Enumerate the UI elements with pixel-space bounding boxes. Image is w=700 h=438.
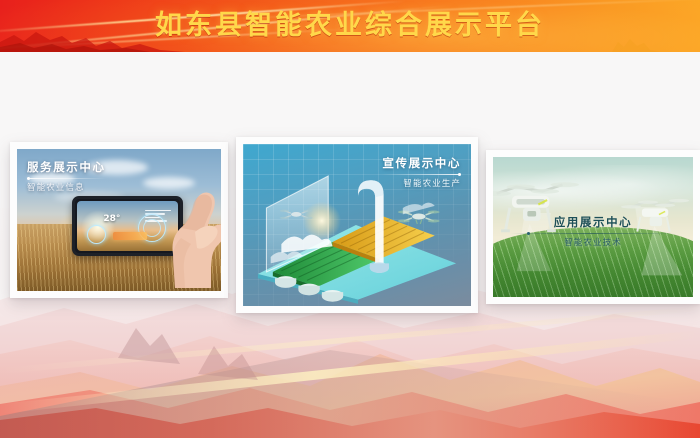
card-caption-application: 应用展示中心 智能农业技术 bbox=[493, 215, 693, 249]
card-application-display-center[interactable]: 应用展示中心 智能农业技术 bbox=[486, 150, 700, 304]
card-promotion-display-center[interactable]: 宣传展示中心 智能农业生产 bbox=[236, 137, 478, 313]
card-caption-promotion: 宣传展示中心 智能农业生产 bbox=[382, 156, 461, 190]
card-subtitle: 智能农业信息 bbox=[27, 182, 106, 194]
card-title: 应用展示中心 bbox=[493, 215, 693, 230]
hand-holding-phone bbox=[135, 180, 221, 288]
app-root: 如东县智能农业综合展示平台 bbox=[0, 0, 700, 438]
card-title: 服务展示中心 bbox=[27, 160, 106, 175]
hud-gauge-ring bbox=[87, 225, 106, 244]
caption-divider bbox=[27, 178, 106, 179]
header-banner: 如东县智能农业综合展示平台 bbox=[0, 0, 700, 52]
weather-temperature: 28° bbox=[103, 214, 120, 224]
card-image-promotion: 宣传展示中心 智能农业生产 bbox=[243, 144, 471, 306]
page-title: 如东县智能农业综合展示平台 bbox=[0, 7, 700, 45]
card-caption-service: 服务展示中心 智能农业信息 bbox=[27, 160, 106, 194]
caption-divider bbox=[511, 233, 675, 234]
caption-dot bbox=[27, 177, 30, 180]
card-image-service: 28° 服务展示中心 智能农业信息 bbox=[17, 149, 221, 291]
card-title: 宣传展示中心 bbox=[382, 156, 461, 171]
card-image-application: 应用展示中心 智能农业技术 bbox=[493, 157, 693, 297]
caption-dot bbox=[458, 173, 461, 176]
card-subtitle: 智能农业技术 bbox=[493, 237, 693, 249]
caption-divider bbox=[382, 174, 461, 175]
card-service-display-center[interactable]: 28° 服务展示中心 智能农业信息 bbox=[10, 142, 228, 298]
card-subtitle: 智能农业生产 bbox=[382, 178, 461, 190]
caption-dot bbox=[527, 232, 530, 235]
